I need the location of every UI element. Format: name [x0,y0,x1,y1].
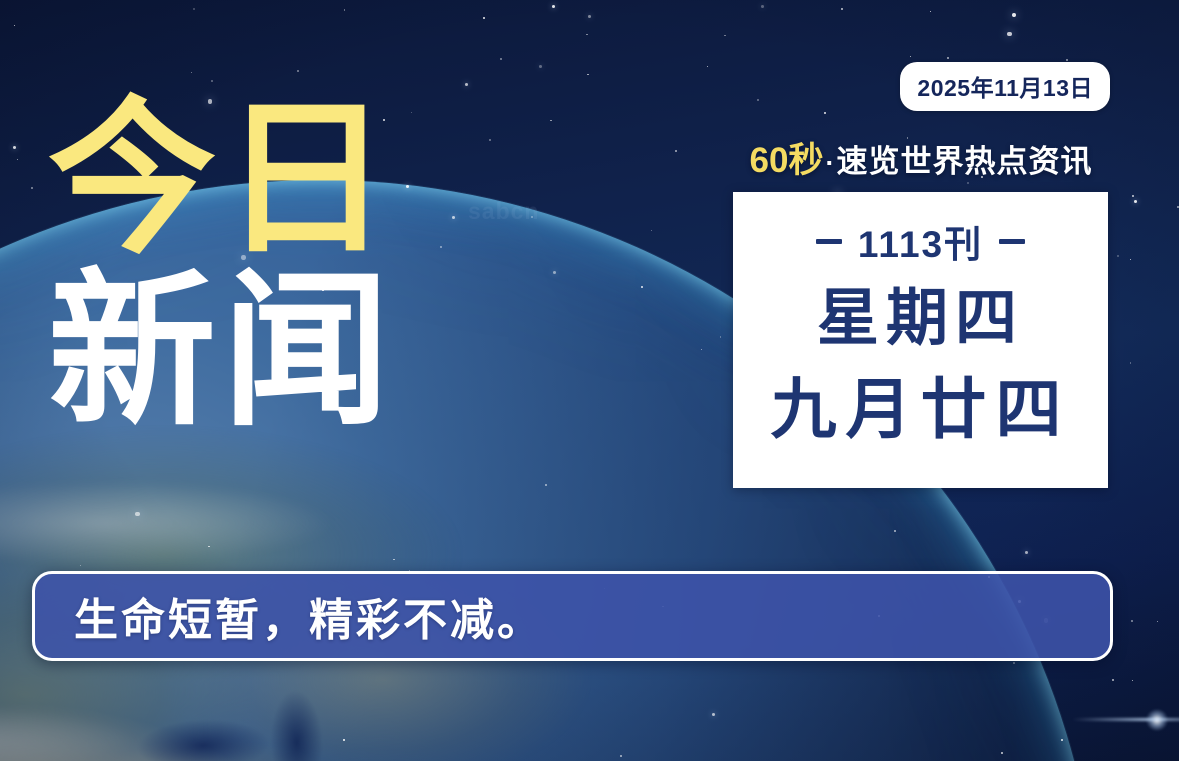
lunar-date-label: 九月廿四 [771,376,1071,442]
quote-banner: 生命短暂，精彩不减。 [32,571,1113,661]
issue-row: 1113刊 [816,214,1025,268]
title-line-news: 新闻 [48,268,468,434]
tagline: 60秒·速览世界热点资讯 [733,143,1109,178]
news-poster: sabcn 今日 新闻 2025年11月13日 60秒·速览世界热点资讯 111… [0,0,1179,761]
weekday-label: 星期四 [817,288,1024,350]
watermark-text: sabcn [468,198,539,225]
dash-right-icon [999,239,1025,244]
date-badge: 2025年11月13日 [900,62,1110,111]
tagline-seconds: 60秒 [750,141,824,180]
lens-flare-streak-icon [1072,718,1179,721]
tagline-text: 速览世界热点资讯 [836,144,1092,179]
quote-text: 生命短暂，精彩不减。 [35,584,544,648]
tagline-separator-icon: · [823,148,836,178]
issue-info-card: 1113刊 星期四 九月廿四 [733,192,1108,488]
issue-number: 1113刊 [858,214,983,268]
title-line-today: 今日 [48,96,468,262]
dash-left-icon [816,239,842,244]
poster-title: 今日 新闻 [48,96,468,435]
